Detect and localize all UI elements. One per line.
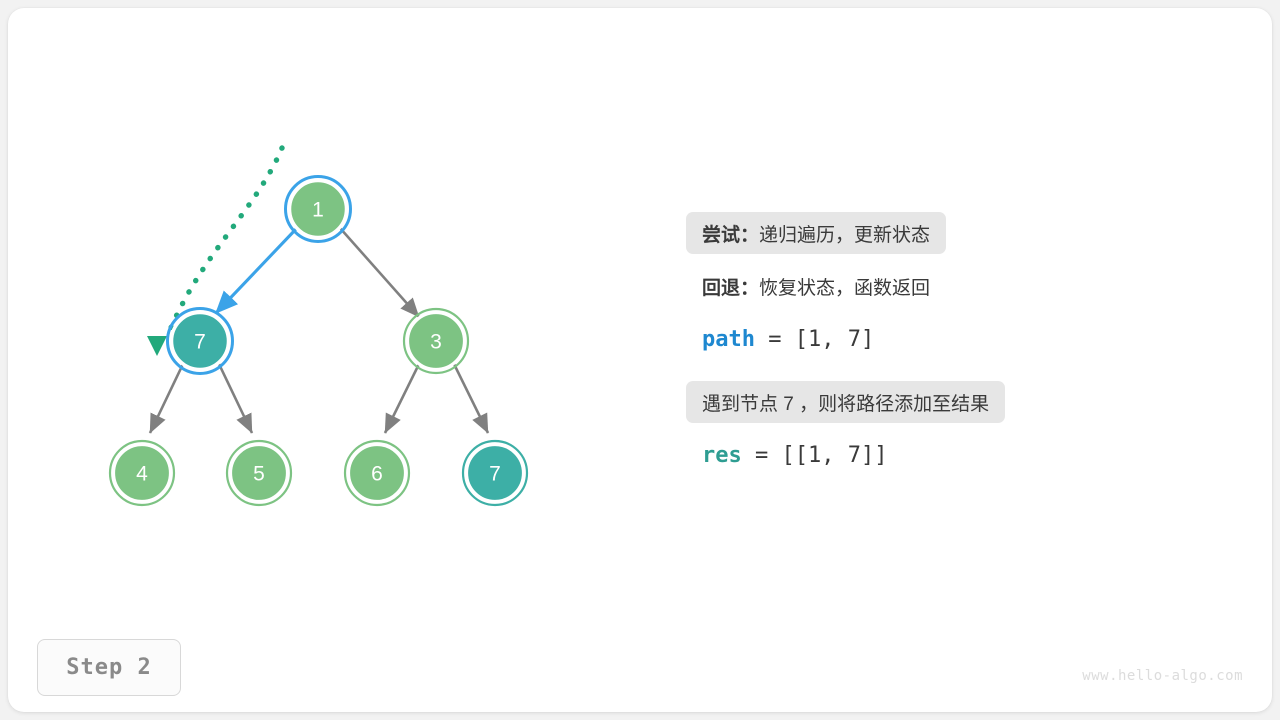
- panel-spacer: [686, 371, 1246, 381]
- res-variable-value: = [[1, 7]]: [742, 443, 888, 468]
- annotation-try-text: 递归遍历，更新状态: [759, 220, 930, 247]
- annotation-row-res: res = [[1, 7]]: [686, 434, 1246, 476]
- annotation-row-try: 尝试： 递归遍历，更新状态: [686, 212, 1246, 254]
- annotation-row-found: 遇到节点 7 ，则将路径添加至结果: [686, 381, 1246, 423]
- annotation-row-backtrack: 回退： 恢复状态，函数返回: [686, 265, 1246, 307]
- annotation-try-prefix: 尝试：: [702, 220, 759, 247]
- step-badge: Step 2: [37, 639, 181, 696]
- annotation-found-text: 遇到节点 7 ，则将路径添加至结果: [702, 389, 989, 416]
- path-variable-name: path: [702, 327, 755, 352]
- annotation-backtrack-prefix: 回退：: [702, 273, 759, 300]
- annotation-backtrack-text: 恢复状态，函数返回: [759, 273, 930, 300]
- annotation-row-path: path = [1, 7]: [686, 318, 1246, 360]
- path-variable-value: = [1, 7]: [755, 327, 874, 352]
- watermark: www.hello-algo.com: [1082, 668, 1243, 684]
- annotation-panel: 尝试： 递归遍历，更新状态 回退： 恢复状态，函数返回 path = [1, 7…: [686, 212, 1246, 487]
- screenshot-canvas: 1 7 3 4 5 6: [0, 0, 1280, 720]
- res-variable-name: res: [702, 443, 742, 468]
